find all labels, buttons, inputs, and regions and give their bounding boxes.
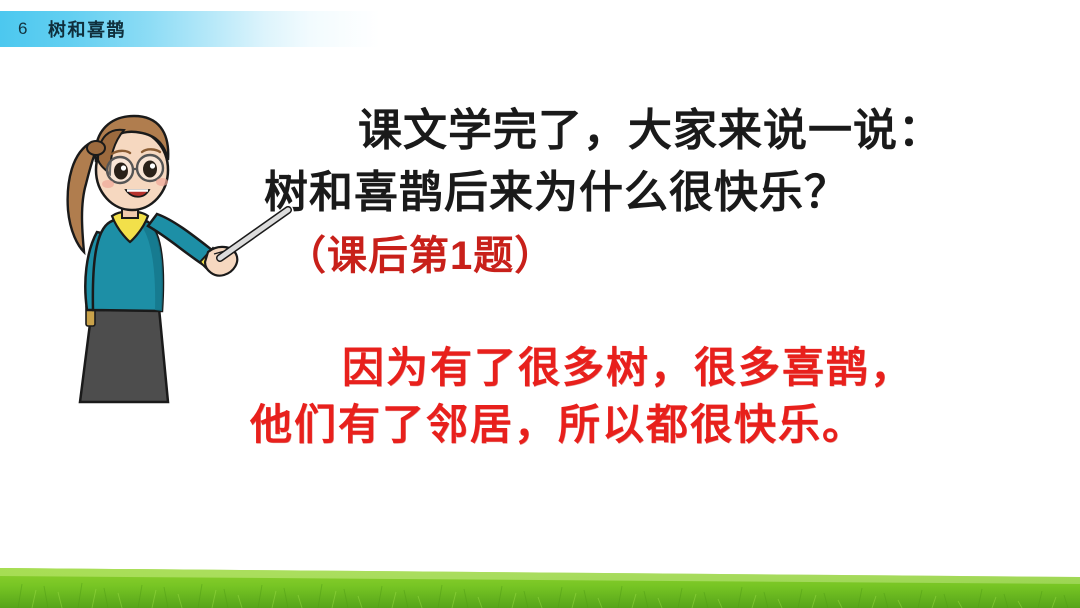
- question-reference: （课后第1题）: [250, 225, 970, 287]
- eye-highlight-right: [150, 163, 155, 168]
- question-line-2: 树和喜鹊后来为什么很快乐？: [250, 162, 970, 224]
- hair-tie: [87, 141, 105, 155]
- ponytail: [68, 142, 98, 252]
- answer-text-block: 因为有了很多树，很多喜鹊， 他们有了邻居，所以都很快乐。: [250, 340, 970, 453]
- eye-highlight-left: [121, 165, 126, 170]
- eye-left: [114, 163, 128, 180]
- lesson-number: 6: [18, 19, 28, 39]
- blush-left: [102, 180, 114, 188]
- slide-canvas: 6 树和喜鹊: [0, 0, 1080, 608]
- header-content: 6 树和喜鹊: [0, 11, 126, 47]
- eye-right: [143, 161, 157, 178]
- grass-graphic-icon: [0, 558, 1080, 608]
- lesson-title: 树和喜鹊: [48, 16, 126, 42]
- grass-field: [0, 558, 1080, 608]
- question-text-block: 课文学完了，大家来说一说： 树和喜鹊后来为什么很快乐？ （课后第1题）: [250, 100, 970, 287]
- blush-right: [156, 178, 168, 186]
- answer-line-1: 因为有了很多树，很多喜鹊，: [250, 340, 970, 397]
- question-line-1: 课文学完了，大家来说一说：: [250, 100, 970, 162]
- answer-line-2: 他们有了邻居，所以都很快乐。: [250, 397, 970, 454]
